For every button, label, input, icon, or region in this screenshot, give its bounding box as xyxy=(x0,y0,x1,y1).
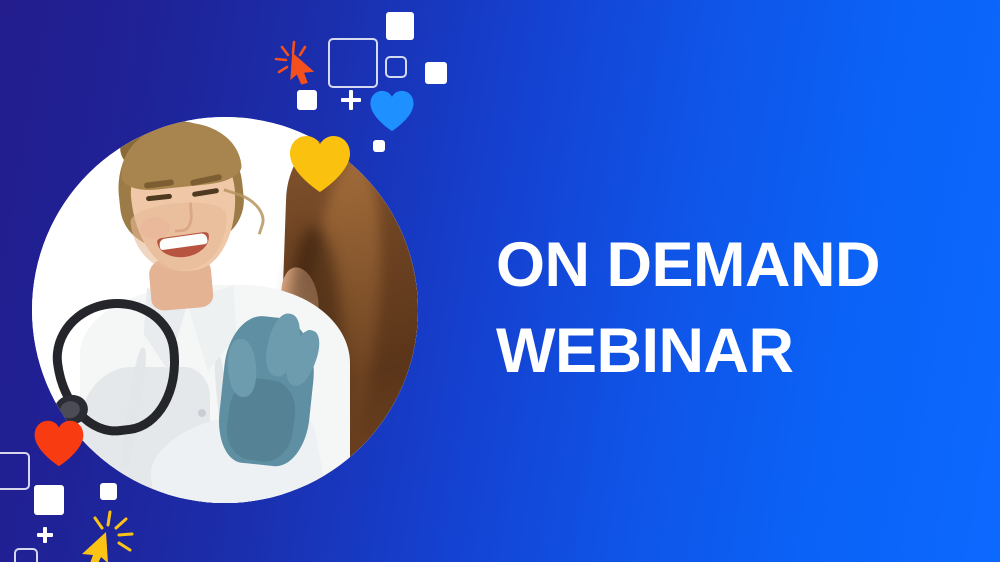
decor-square-solid xyxy=(100,483,117,500)
decor-square-solid xyxy=(34,485,64,515)
page-title: ON DEMAND WEBINAR xyxy=(496,222,966,394)
decor-square-outline xyxy=(328,38,378,88)
promo-banner: ON DEMAND WEBINAR xyxy=(0,0,1000,562)
headline-line-2: WEBINAR xyxy=(496,308,966,394)
decor-square-solid xyxy=(297,90,317,110)
blue-heart-icon xyxy=(369,89,415,133)
doctor-photo-circle xyxy=(32,117,418,503)
decor-square-outline xyxy=(385,56,407,78)
orange-click-cursor-icon xyxy=(272,38,328,90)
doctor-photo xyxy=(32,117,418,503)
decor-square-solid xyxy=(386,12,414,40)
decor-plus-icon xyxy=(37,527,53,543)
decor-square-solid xyxy=(373,140,385,152)
decor-square-outline xyxy=(14,548,38,562)
headline-line-1: ON DEMAND xyxy=(496,222,966,308)
decor-square-solid xyxy=(425,62,447,84)
decor-plus-icon xyxy=(341,90,361,110)
yellow-click-cursor-icon xyxy=(68,508,140,562)
yellow-heart-icon xyxy=(288,134,352,194)
decor-square-outline xyxy=(0,452,30,490)
red-heart-icon xyxy=(33,419,85,468)
coat-button xyxy=(198,409,206,417)
